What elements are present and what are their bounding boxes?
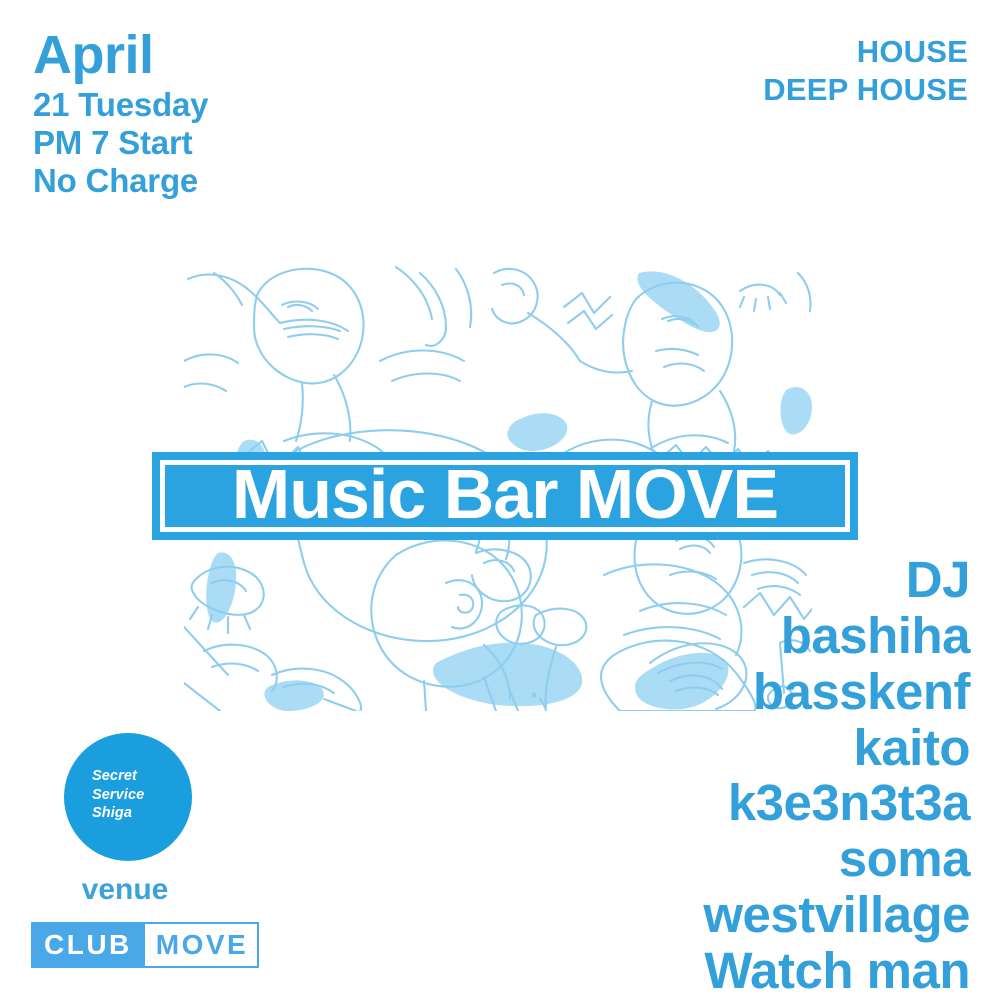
dj-name-basskenf: basskenf	[703, 664, 970, 720]
club-move-logo: CLUB MOVE	[31, 922, 259, 968]
dj-name-soma: soma	[703, 831, 970, 887]
organizer-badge-line3: Shiga	[92, 804, 144, 823]
event-title-banner: Music Bar MOVE	[152, 452, 858, 540]
event-start-time: PM 7 Start	[33, 126, 208, 159]
dj-lineup: DJ bashiha basskenf kaito k3e3n3t3a soma…	[703, 552, 970, 999]
club-move-logo-move: MOVE	[143, 922, 259, 968]
flyer-poster: April 21 Tuesday PM 7 Start No Charge HO…	[0, 0, 1000, 1000]
organizer-badge-line1: Secret	[92, 767, 144, 786]
event-genre-block: HOUSE DEEP HOUSE	[763, 33, 968, 109]
dj-name-westvillage: westvillage	[703, 887, 970, 943]
event-title: Music Bar MOVE	[232, 459, 778, 533]
dj-name-watch-man: Watch man	[703, 943, 970, 999]
event-day: 21 Tuesday	[33, 88, 208, 121]
event-month: April	[33, 28, 208, 82]
event-date-block: April 21 Tuesday PM 7 Start No Charge	[33, 28, 208, 202]
organizer-badge-text: Secret Service Shiga	[92, 767, 144, 823]
club-move-logo-club: CLUB	[31, 922, 143, 968]
dj-name-bashiha: bashiha	[703, 608, 970, 664]
organizer-badge-line2: Service	[92, 786, 144, 805]
dj-lineup-heading: DJ	[703, 552, 970, 608]
organizer-badge: Secret Service Shiga	[64, 733, 192, 861]
dj-name-k3e3n3t3a: k3e3n3t3a	[703, 775, 970, 831]
genre-secondary: DEEP HOUSE	[763, 71, 968, 109]
venue-label: venue	[0, 873, 250, 907]
event-price: No Charge	[33, 164, 208, 197]
genre-primary: HOUSE	[763, 33, 968, 71]
dj-name-kaito: kaito	[703, 720, 970, 776]
